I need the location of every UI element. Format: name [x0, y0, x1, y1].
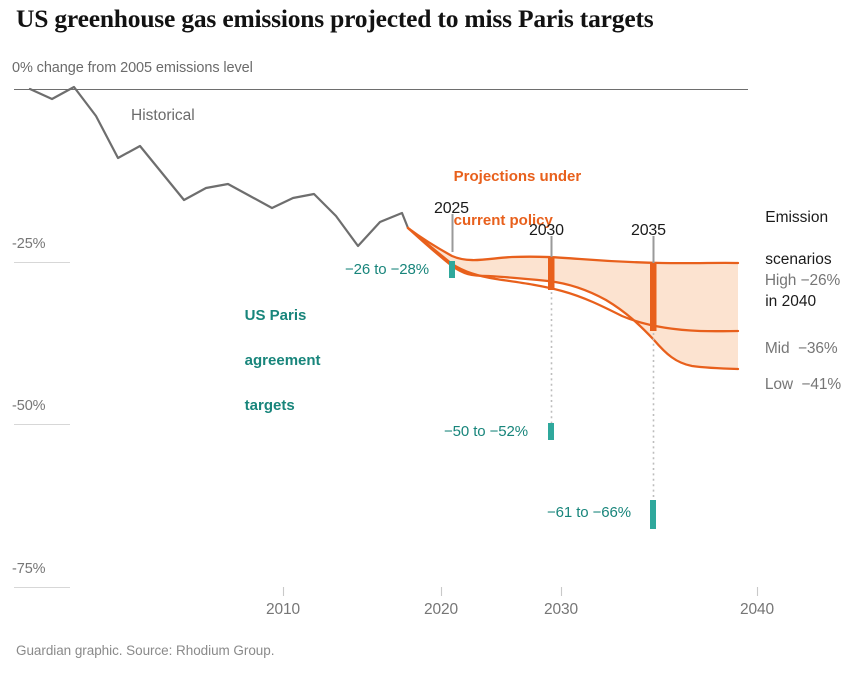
range-marker-2030: [548, 257, 555, 290]
ytick-label-minus50: -50%: [12, 398, 45, 414]
source-footer: Guardian graphic. Source: Rhodium Group.: [16, 643, 274, 658]
paris-label-line2: agreement: [245, 352, 321, 369]
legend-value-low: −41%: [801, 376, 841, 393]
paris-targets-label: US Paris agreement targets: [228, 282, 321, 440]
legend-name-mid: Mid: [765, 340, 790, 357]
target-value-2030: −50 to −52%: [444, 423, 528, 440]
chart-container: US greenhouse gas emissions projected to…: [0, 0, 851, 675]
historical-label: Historical: [131, 107, 195, 125]
target-marker-2035: [650, 500, 656, 529]
legend-row-low: Low −41%: [748, 358, 841, 412]
legend-title-line1: Emission: [765, 209, 828, 226]
axis-zero-note: 0% change from 2005 emissions level: [12, 60, 253, 76]
paris-label-line1: US Paris: [245, 307, 307, 324]
year-label-2035: 2035: [631, 222, 666, 240]
range-marker-2035: [650, 263, 657, 331]
year-label-2030: 2030: [529, 222, 564, 240]
target-value-2025: −26 to −28%: [345, 261, 429, 278]
xtick-label-2040: 2040: [717, 601, 797, 619]
historical-line: [30, 87, 408, 246]
xtick-label-2020: 2020: [401, 601, 481, 619]
xtick-label-2010: 2010: [243, 601, 323, 619]
ytick-label-minus75: -75%: [12, 561, 45, 577]
projections-label-line1: Projections under: [454, 168, 582, 185]
legend-name-high: High: [765, 272, 796, 289]
legend-value-mid: −36%: [798, 340, 838, 357]
year-label-2025: 2025: [434, 200, 469, 218]
legend-name-low: Low: [765, 376, 793, 393]
legend-row-high: High −26%: [748, 254, 840, 308]
target-marker-2025: [449, 261, 455, 278]
target-value-2035: −61 to −66%: [547, 504, 631, 521]
paris-label-line3: targets: [245, 397, 295, 414]
target-marker-2030: [548, 423, 554, 440]
ytick-label-minus25: -25%: [12, 236, 45, 252]
legend-value-high: −26%: [801, 272, 841, 289]
xtick-label-2030: 2030: [521, 601, 601, 619]
chart-canvas: [0, 0, 851, 675]
